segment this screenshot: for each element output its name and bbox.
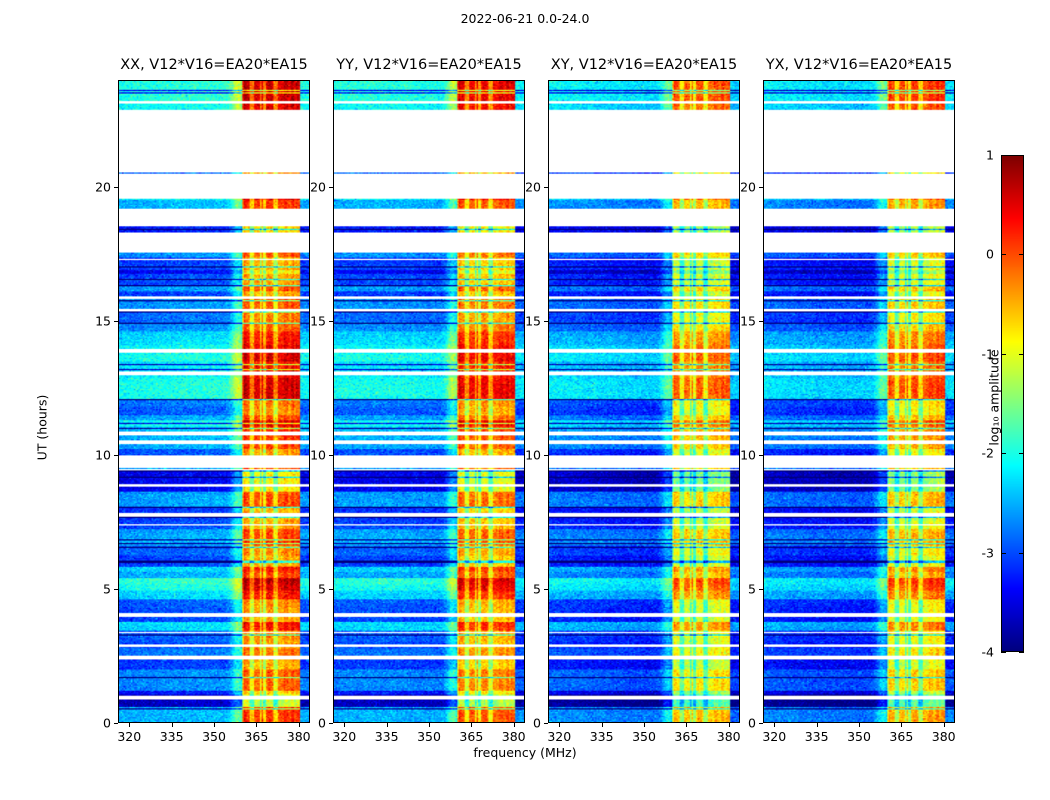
x-tick bbox=[817, 723, 818, 727]
colorbar-tick bbox=[1019, 354, 1024, 355]
x-tick-label: 335 bbox=[160, 729, 184, 744]
panel-yx: YX, V12*V16=EA20*EA153203353503653800510… bbox=[763, 80, 955, 723]
x-tick-label: 320 bbox=[332, 729, 356, 744]
x-tick-label: 365 bbox=[674, 729, 698, 744]
y-tick-label: 10 bbox=[525, 448, 541, 463]
y-tick bbox=[329, 589, 333, 590]
x-tick-label: 350 bbox=[417, 729, 441, 744]
x-tick-label: 320 bbox=[762, 729, 786, 744]
colorbar-tick bbox=[1019, 453, 1024, 454]
x-tick bbox=[256, 723, 257, 727]
y-tick bbox=[114, 187, 118, 188]
x-tick-label: 365 bbox=[244, 729, 268, 744]
colorbar-tick bbox=[1019, 254, 1024, 255]
y-tick bbox=[759, 455, 763, 456]
y-tick bbox=[114, 589, 118, 590]
x-tick-label: 335 bbox=[375, 729, 399, 744]
spectrogram-yy[interactable] bbox=[333, 80, 525, 723]
y-tick-label: 10 bbox=[95, 448, 111, 463]
y-axis-label: UT (hours) bbox=[35, 368, 50, 488]
y-tick-label: 5 bbox=[103, 582, 111, 597]
colorbar-tick bbox=[1019, 652, 1024, 653]
x-tick bbox=[644, 723, 645, 727]
colorbar-tick bbox=[1019, 155, 1024, 156]
y-tick bbox=[114, 321, 118, 322]
y-tick bbox=[329, 723, 333, 724]
colorbar-tick bbox=[1001, 553, 1006, 554]
y-tick-label: 15 bbox=[525, 314, 541, 329]
y-tick-label: 10 bbox=[310, 448, 326, 463]
colorbar-tick bbox=[1001, 354, 1006, 355]
y-tick bbox=[114, 455, 118, 456]
panel-xx: XX, V12*V16=EA20*EA153203353503653800510… bbox=[118, 80, 310, 723]
x-tick bbox=[729, 723, 730, 727]
y-tick-label: 15 bbox=[95, 314, 111, 329]
x-tick bbox=[559, 723, 560, 727]
x-tick-label: 335 bbox=[805, 729, 829, 744]
colorbar-gradient bbox=[1001, 155, 1024, 652]
y-tick-label: 10 bbox=[740, 448, 756, 463]
panel-xy: XY, V12*V16=EA20*EA153203353503653800510… bbox=[548, 80, 740, 723]
x-tick bbox=[344, 723, 345, 727]
colorbar-tick bbox=[1001, 453, 1006, 454]
figure-suptitle: 2022-06-21 0.0-24.0 bbox=[0, 11, 1050, 26]
x-tick-label: 365 bbox=[459, 729, 483, 744]
y-tick bbox=[329, 455, 333, 456]
x-tick bbox=[172, 723, 173, 727]
x-tick bbox=[429, 723, 430, 727]
y-tick bbox=[759, 589, 763, 590]
x-tick-label: 350 bbox=[632, 729, 656, 744]
panel-title-xy: XY, V12*V16=EA20*EA15 bbox=[551, 57, 737, 73]
y-tick-label: 5 bbox=[533, 582, 541, 597]
y-tick-label: 0 bbox=[533, 716, 541, 731]
colorbar-tick bbox=[1001, 254, 1006, 255]
x-tick bbox=[299, 723, 300, 727]
colorbar-tick bbox=[1001, 155, 1006, 156]
x-tick bbox=[214, 723, 215, 727]
y-tick bbox=[759, 723, 763, 724]
spectrogram-yx[interactable] bbox=[763, 80, 955, 723]
x-tick-label: 350 bbox=[202, 729, 226, 744]
spectrogram-xx[interactable] bbox=[118, 80, 310, 723]
figure-canvas: 2022-06-21 0.0-24.0 XX, V12*V16=EA20*EA1… bbox=[0, 0, 1050, 800]
x-tick-label: 320 bbox=[547, 729, 571, 744]
x-tick bbox=[387, 723, 388, 727]
x-tick bbox=[129, 723, 130, 727]
y-tick bbox=[544, 589, 548, 590]
y-tick bbox=[759, 187, 763, 188]
x-tick-label: 380 bbox=[287, 729, 311, 744]
panel-title-xx: XX, V12*V16=EA20*EA15 bbox=[120, 57, 308, 73]
panel-yy: YY, V12*V16=EA20*EA153203353503653800510… bbox=[333, 80, 525, 723]
y-tick-label: 20 bbox=[525, 180, 541, 195]
colorbar-tick-label: -4 bbox=[982, 645, 994, 660]
colorbar-tick bbox=[1001, 652, 1006, 653]
y-tick-label: 0 bbox=[318, 716, 326, 731]
x-tick-label: 365 bbox=[889, 729, 913, 744]
x-tick-label: 380 bbox=[932, 729, 956, 744]
x-tick bbox=[944, 723, 945, 727]
x-axis-label: frequency (MHz) bbox=[0, 745, 1050, 760]
y-tick bbox=[114, 723, 118, 724]
y-tick-label: 5 bbox=[748, 582, 756, 597]
y-tick bbox=[329, 187, 333, 188]
y-tick-label: 15 bbox=[740, 314, 756, 329]
colorbar-tick-label: 1 bbox=[986, 148, 994, 163]
y-tick-label: 20 bbox=[740, 180, 756, 195]
x-tick bbox=[774, 723, 775, 727]
y-tick bbox=[544, 187, 548, 188]
y-tick-label: 5 bbox=[318, 582, 326, 597]
x-tick-label: 380 bbox=[502, 729, 526, 744]
colorbar-tick-label: 0 bbox=[986, 247, 994, 262]
x-tick-label: 350 bbox=[847, 729, 871, 744]
colorbar: 10-1-2-3-4 bbox=[1001, 155, 1024, 652]
colorbar-label: log₁₀ amplitude bbox=[987, 328, 1002, 468]
y-tick-label: 0 bbox=[748, 716, 756, 731]
y-tick bbox=[544, 321, 548, 322]
x-tick bbox=[471, 723, 472, 727]
x-tick bbox=[514, 723, 515, 727]
y-tick bbox=[759, 321, 763, 322]
y-tick-label: 0 bbox=[103, 716, 111, 731]
y-tick bbox=[544, 455, 548, 456]
x-tick bbox=[602, 723, 603, 727]
x-tick bbox=[686, 723, 687, 727]
panel-title-yx: YX, V12*V16=EA20*EA15 bbox=[766, 57, 952, 73]
y-tick-label: 20 bbox=[310, 180, 326, 195]
y-tick bbox=[329, 321, 333, 322]
spectrogram-xy[interactable] bbox=[548, 80, 740, 723]
colorbar-tick-label: -3 bbox=[982, 545, 994, 560]
x-tick-label: 320 bbox=[117, 729, 141, 744]
x-tick bbox=[901, 723, 902, 727]
y-tick-label: 15 bbox=[310, 314, 326, 329]
x-tick-label: 335 bbox=[590, 729, 614, 744]
x-tick-label: 380 bbox=[717, 729, 741, 744]
panel-title-yy: YY, V12*V16=EA20*EA15 bbox=[336, 57, 521, 73]
colorbar-tick bbox=[1019, 553, 1024, 554]
x-tick bbox=[859, 723, 860, 727]
y-tick bbox=[544, 723, 548, 724]
y-tick-label: 20 bbox=[95, 180, 111, 195]
